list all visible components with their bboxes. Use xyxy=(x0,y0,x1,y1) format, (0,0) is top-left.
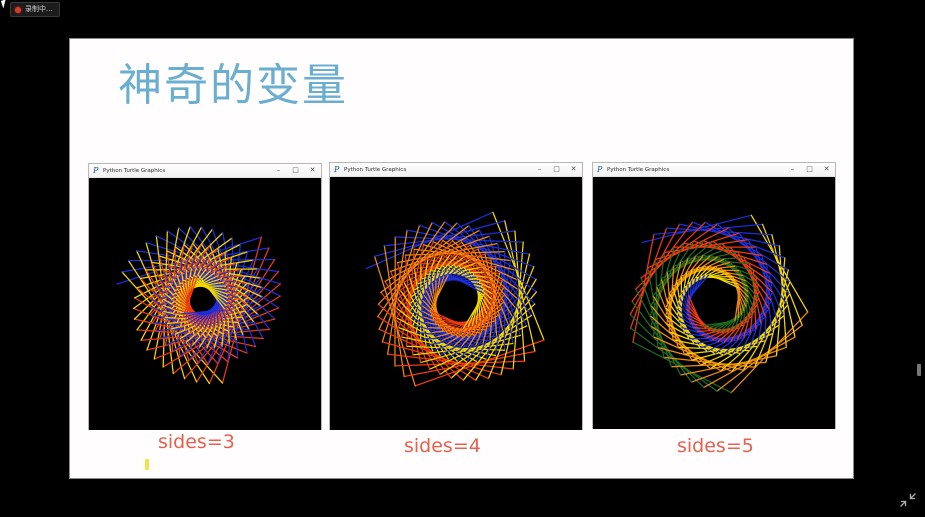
maximize-button[interactable]: □ xyxy=(548,163,565,176)
close-button[interactable]: ✕ xyxy=(818,163,835,176)
window-title: Python Turtle Graphics xyxy=(607,167,669,173)
caption-sides-3: sides=3 xyxy=(158,431,235,453)
minimize-button[interactable]: – xyxy=(270,164,287,177)
screen-root: 录制中... 神奇的变量 P Python Turtle Graphics – … xyxy=(0,0,925,517)
turtle-canvas-2 xyxy=(330,177,582,430)
turtle-canvas-3 xyxy=(593,177,835,429)
turtle-window-3[interactable]: P Python Turtle Graphics – □ ✕ xyxy=(593,163,835,428)
titlebar[interactable]: P Python Turtle Graphics – □ ✕ xyxy=(330,163,582,177)
python-icon: P xyxy=(334,165,341,174)
maximize-button[interactable]: □ xyxy=(801,163,818,176)
svg-text:P: P xyxy=(334,165,340,174)
presentation-slide: 神奇的变量 P Python Turtle Graphics – □ ✕ xyxy=(70,39,853,478)
turtle-window-2[interactable]: P Python Turtle Graphics – □ ✕ xyxy=(330,163,582,429)
window-controls: – □ ✕ xyxy=(531,163,582,176)
titlebar[interactable]: P Python Turtle Graphics – □ ✕ xyxy=(593,163,835,177)
window-title: Python Turtle Graphics xyxy=(344,167,406,173)
turtle-window-1[interactable]: P Python Turtle Graphics – □ ✕ xyxy=(89,164,321,429)
exit-fullscreen-icon[interactable] xyxy=(899,491,917,509)
turtle-window-group: P Python Turtle Graphics – □ ✕ xyxy=(70,39,853,478)
recording-indicator[interactable]: 录制中... xyxy=(10,2,60,17)
python-icon: P xyxy=(93,166,100,175)
caption-sides-5: sides=5 xyxy=(677,435,754,457)
python-icon: P xyxy=(597,165,604,174)
close-button[interactable]: ✕ xyxy=(565,163,582,176)
recording-label: 录制中... xyxy=(25,3,53,16)
minimize-button[interactable]: – xyxy=(784,163,801,176)
close-button[interactable]: ✕ xyxy=(304,164,321,177)
spiral-graphic-4 xyxy=(330,177,582,430)
caption-sides-4: sides=4 xyxy=(404,435,481,457)
svg-text:P: P xyxy=(597,165,603,174)
spiral-graphic-3 xyxy=(89,178,321,430)
window-controls: – □ ✕ xyxy=(270,164,321,177)
window-title: Python Turtle Graphics xyxy=(103,168,165,174)
record-dot-icon xyxy=(15,7,21,13)
scroll-indicator[interactable] xyxy=(917,364,921,376)
maximize-button[interactable]: □ xyxy=(287,164,304,177)
spiral-graphic-5 xyxy=(593,177,835,429)
turtle-canvas-1 xyxy=(89,178,321,430)
highlight-marker xyxy=(145,459,149,470)
svg-text:P: P xyxy=(93,166,99,175)
window-controls: – □ ✕ xyxy=(784,163,835,176)
minimize-button[interactable]: – xyxy=(531,163,548,176)
mouse-cursor-icon xyxy=(1,0,8,9)
titlebar[interactable]: P Python Turtle Graphics – □ ✕ xyxy=(89,164,321,178)
